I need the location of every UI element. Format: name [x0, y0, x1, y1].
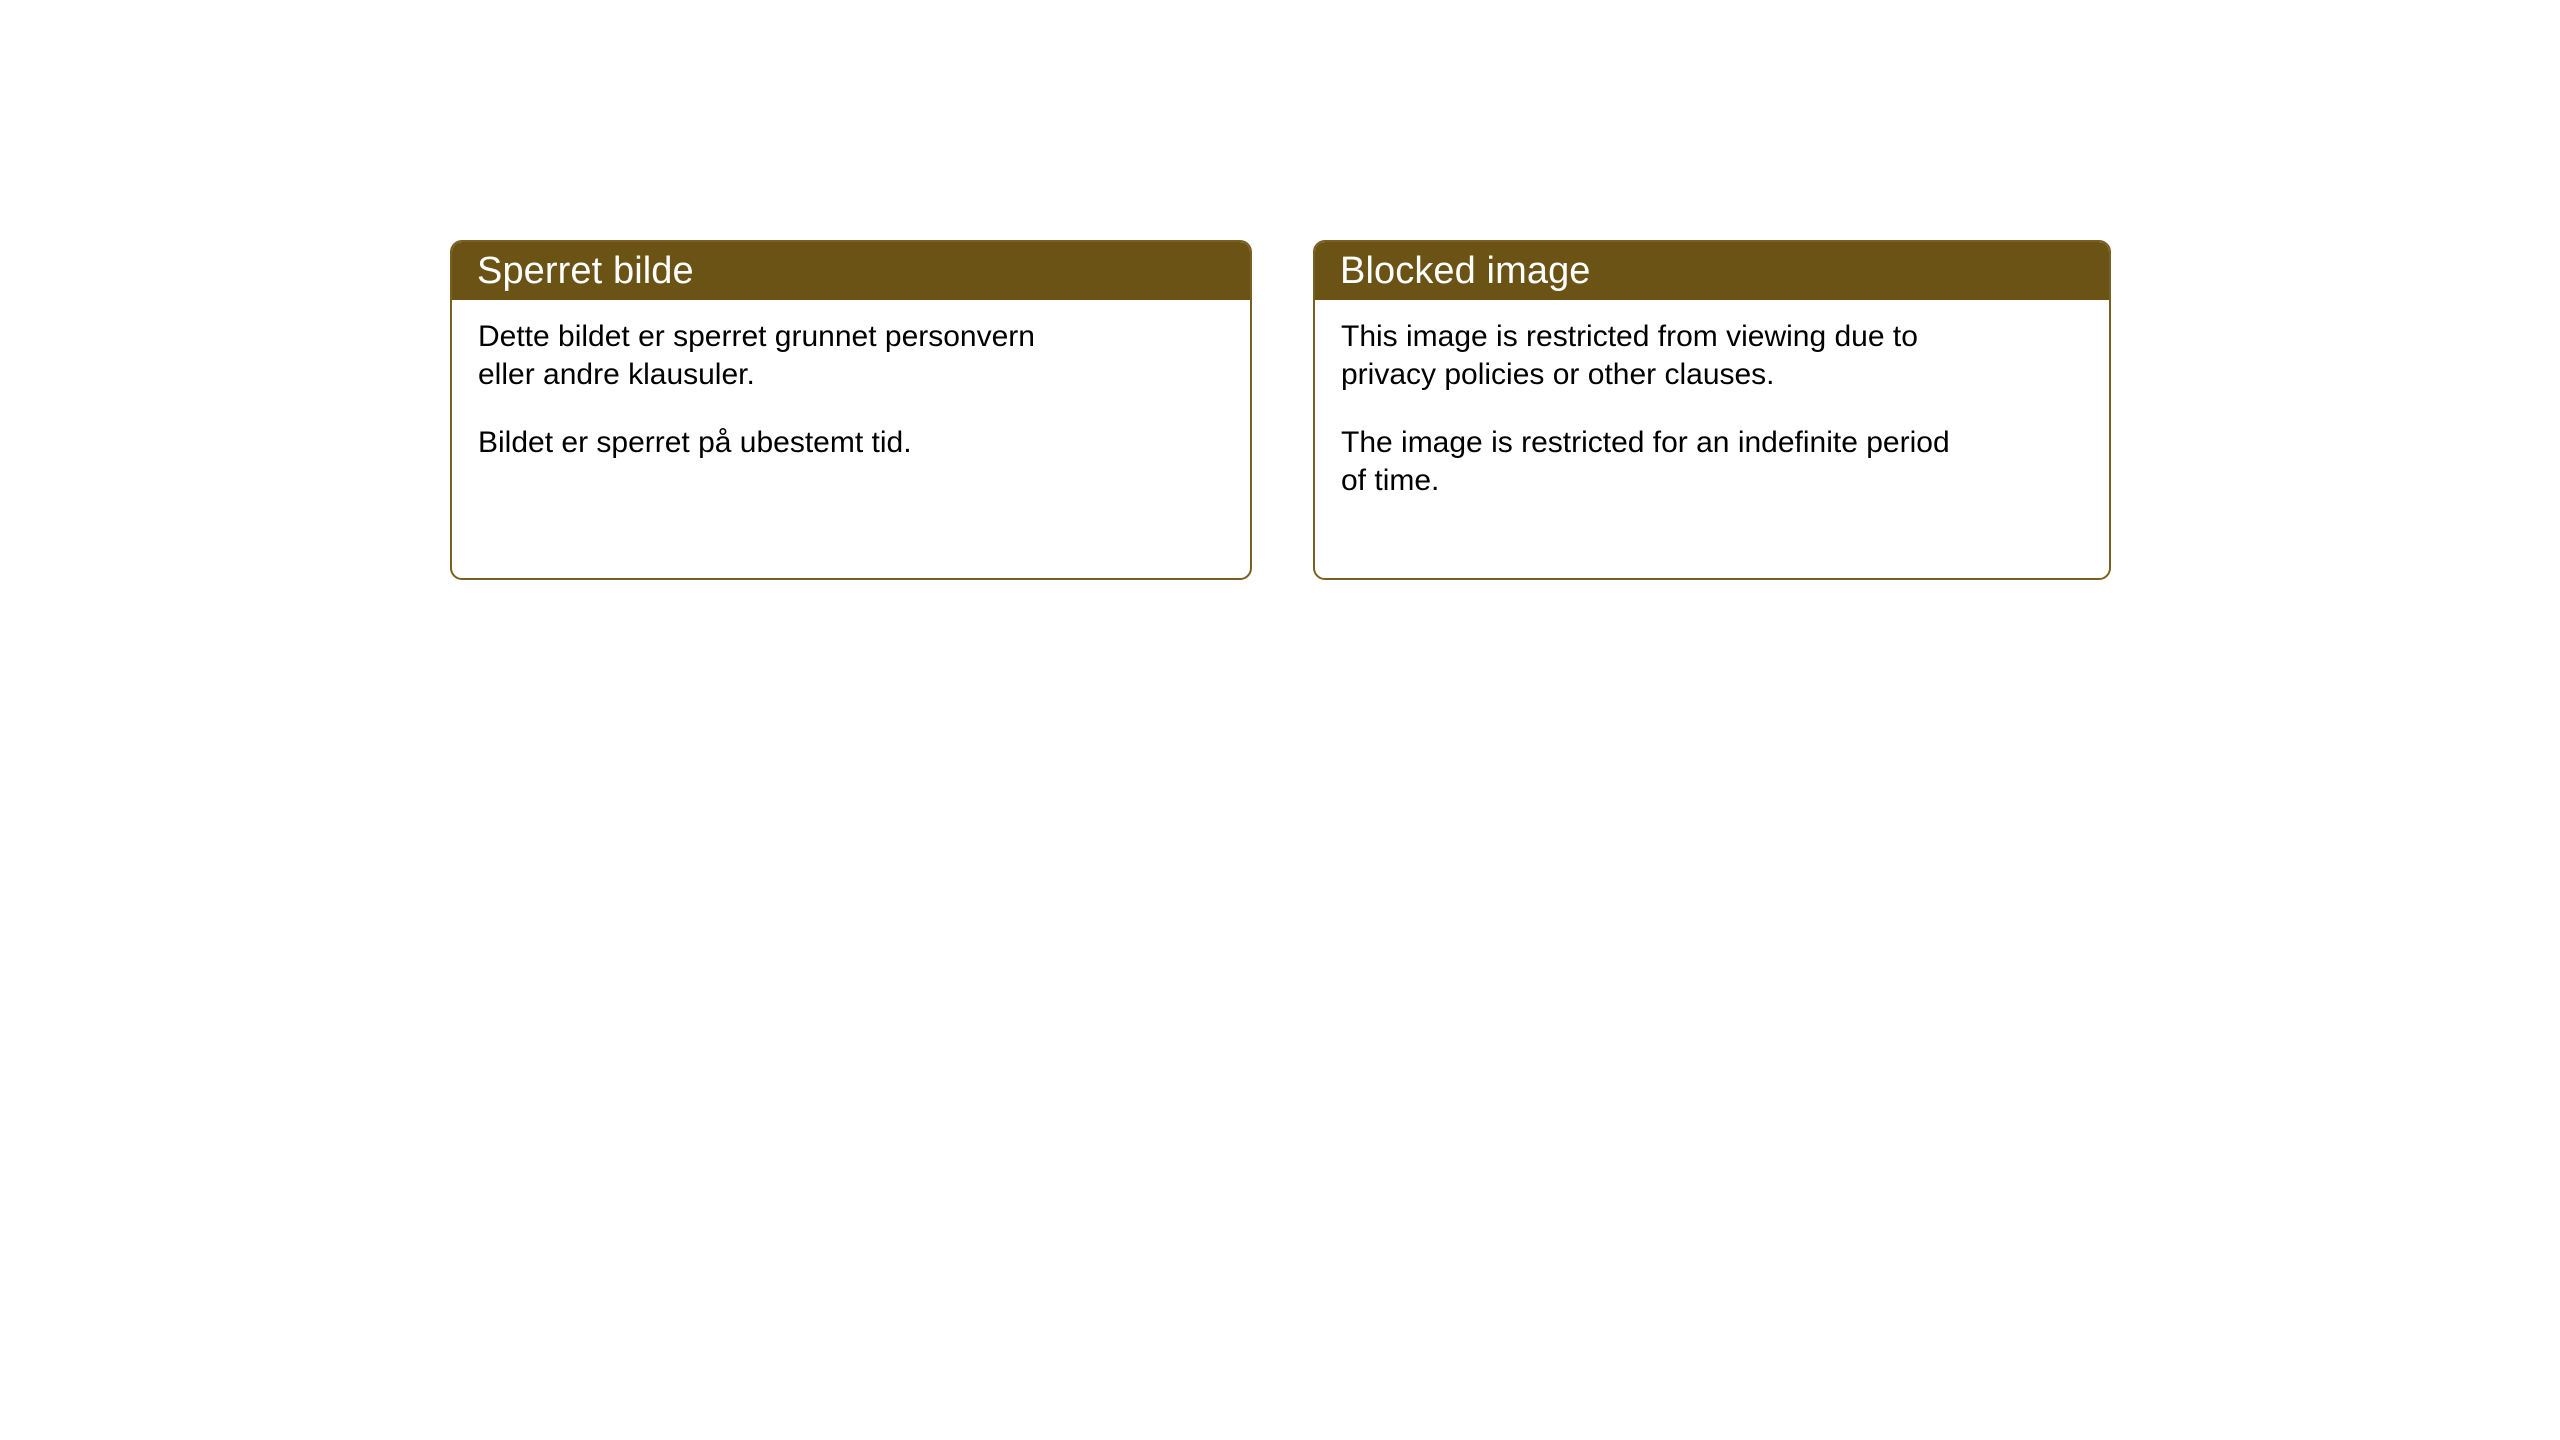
blocked-image-notice-card-english: Blocked image This image is restricted f…: [1313, 240, 2111, 580]
card-title-english: Blocked image: [1340, 252, 1591, 290]
page-canvas: Sperret bilde Dette bildet er sperret gr…: [0, 0, 2560, 1440]
card-paragraph-primary-norwegian: Dette bildet er sperret grunnet personve…: [478, 318, 1226, 394]
card-header-english: Blocked image: [1315, 242, 2109, 300]
card-body-norwegian: Dette bildet er sperret grunnet personve…: [452, 300, 1250, 462]
card-paragraph-secondary-norwegian: Bildet er sperret på ubestemt tid.: [478, 424, 1226, 462]
card-paragraph-primary-english: This image is restricted from viewing du…: [1341, 318, 2085, 394]
card-body-english: This image is restricted from viewing du…: [1315, 300, 2109, 500]
blocked-image-notice-card-norwegian: Sperret bilde Dette bildet er sperret gr…: [450, 240, 1252, 580]
card-title-norwegian: Sperret bilde: [477, 252, 694, 290]
card-header-norwegian: Sperret bilde: [452, 242, 1250, 300]
card-paragraph-secondary-english: The image is restricted for an indefinit…: [1341, 424, 2085, 500]
